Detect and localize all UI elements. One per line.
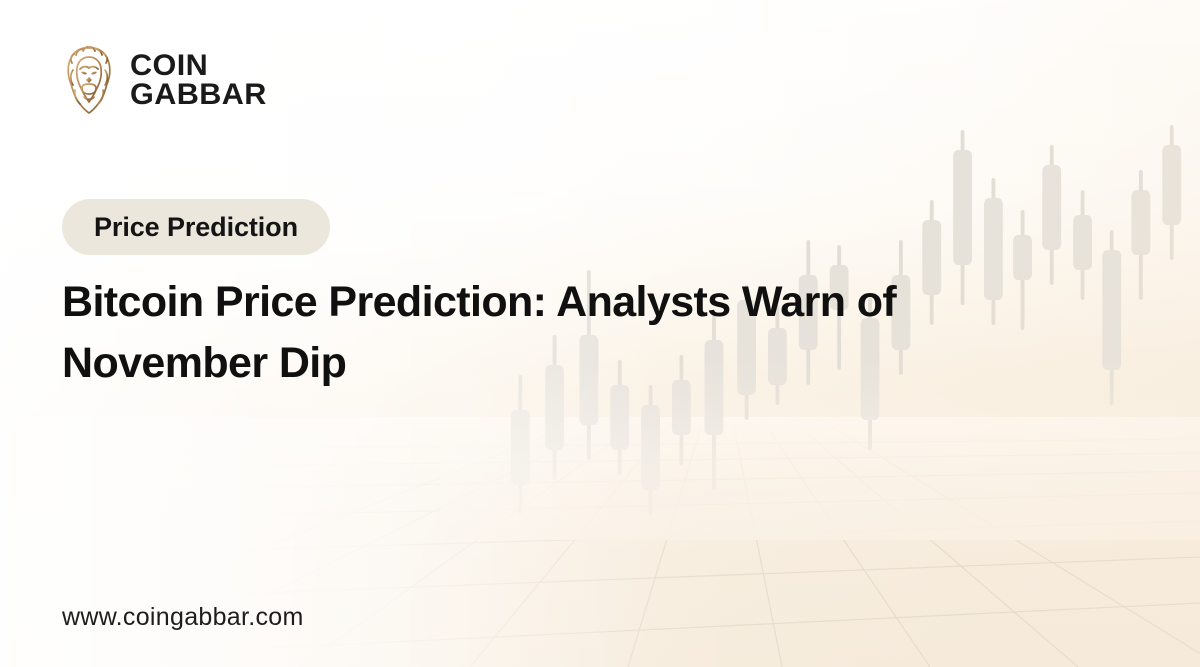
candle-wick — [1170, 125, 1174, 260]
brand-name-line1: COIN — [130, 51, 267, 80]
candle-wick — [649, 385, 653, 515]
banner-canvas: COIN GABBAR Price Prediction Bitcoin Pri… — [0, 0, 1200, 667]
site-url: www.coingabbar.com — [62, 603, 304, 632]
category-badge-label: Price Prediction — [94, 212, 298, 243]
candle-wick — [518, 375, 522, 515]
candle-wick — [1110, 230, 1114, 405]
candle-body — [1162, 145, 1181, 225]
candle-body — [1073, 215, 1092, 270]
candle-body — [511, 410, 530, 485]
candle-body — [641, 405, 660, 490]
category-badge[interactable]: Price Prediction — [62, 199, 330, 255]
brand-name-line2: GABBAR — [130, 80, 267, 109]
brand-wordmark: COIN GABBAR — [130, 51, 264, 110]
page-title: Bitcoin Price Prediction: Analysts Warn … — [62, 272, 1072, 394]
candle-body — [1042, 165, 1061, 250]
lion-head-icon — [62, 44, 116, 116]
candle-body — [1102, 250, 1121, 370]
candle-body — [610, 385, 629, 450]
candle-wick — [1050, 145, 1054, 285]
candle-body — [1131, 190, 1150, 255]
brand-logo[interactable]: COIN GABBAR — [62, 44, 264, 116]
candle-body — [953, 150, 972, 265]
candle-wick — [1139, 170, 1143, 300]
candle-wick — [1081, 190, 1085, 300]
